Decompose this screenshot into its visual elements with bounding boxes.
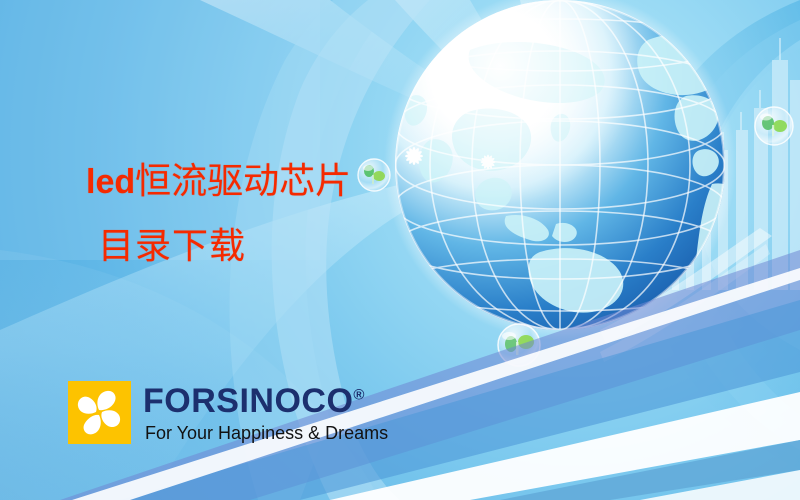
banner-canvas: led恒流驱动芯片 目录下载 FORSINOCO® For Your Happi… — [0, 0, 800, 500]
bubble-sprout-lower — [498, 324, 540, 366]
logo-wordmark: FORSINOCO® — [143, 384, 388, 418]
city-skyline-silhouette — [637, 38, 800, 290]
title-line-1-cjk: 恒流驱动芯片 — [135, 161, 351, 201]
logo-wordmark-text: FORSINOCO — [143, 382, 353, 420]
registered-trademark-icon: ® — [353, 386, 364, 403]
brand-logo: FORSINOCO® For Your Happiness & Dreams — [68, 381, 388, 444]
diagonal-bands — [60, 250, 800, 500]
page-title: led恒流驱动芯片 目录下载 — [86, 163, 506, 264]
logo-text-block: FORSINOCO® For Your Happiness & Dreams — [143, 384, 388, 442]
title-line-1: led恒流驱动芯片 — [86, 163, 506, 199]
bubble-sprout-right — [755, 107, 793, 145]
title-line-2: 目录下载 — [86, 228, 506, 264]
forsinoco-pinwheel-mark-icon — [68, 381, 131, 444]
title-line-1-latin: led — [86, 163, 135, 201]
logo-tagline: For Your Happiness & Dreams — [145, 424, 388, 442]
